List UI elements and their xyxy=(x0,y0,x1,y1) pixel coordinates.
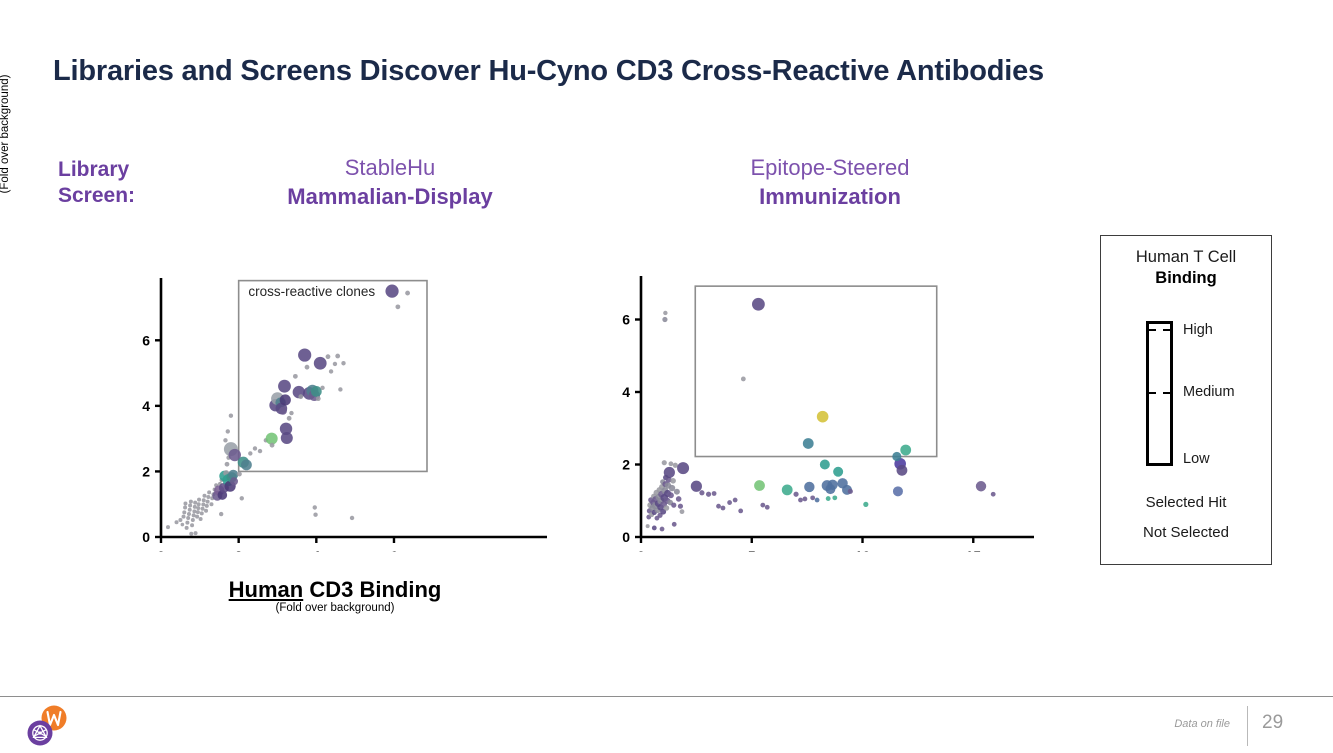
data-point xyxy=(782,484,793,495)
footer-page-number: 29 xyxy=(1262,712,1322,734)
page-title: Libraries and Screens Discover Hu-Cyno C… xyxy=(53,55,1283,88)
data-point xyxy=(314,357,327,370)
data-point xyxy=(188,508,192,512)
data-point xyxy=(201,507,205,511)
data-point xyxy=(287,416,292,421)
data-point xyxy=(662,460,667,465)
data-point xyxy=(293,374,298,379)
data-point xyxy=(313,505,317,509)
legend-title-line2: Binding xyxy=(1101,268,1271,289)
data-point xyxy=(205,504,209,508)
data-point xyxy=(826,496,831,501)
data-point xyxy=(189,500,193,504)
data-point xyxy=(892,452,901,461)
data-point xyxy=(202,494,206,498)
plot-canvas-left: 02460246cross-reactive clones xyxy=(100,262,570,552)
data-point xyxy=(678,504,683,509)
data-point xyxy=(395,304,400,309)
data-point xyxy=(691,481,702,492)
data-point xyxy=(721,506,726,511)
data-point xyxy=(311,386,322,397)
data-point xyxy=(833,467,843,477)
data-point xyxy=(204,509,208,513)
data-point xyxy=(803,438,814,449)
panel1-bold-text: Mammalian-Display xyxy=(205,184,575,211)
y-tick-label: 2 xyxy=(622,457,630,473)
scatter-plot-mammalian-display: 02460246cross-reactive clones xyxy=(100,262,570,552)
data-point xyxy=(671,503,676,508)
data-point xyxy=(752,298,765,311)
y-tick-label: 0 xyxy=(622,529,630,545)
plot-annotation: cross-reactive clones xyxy=(248,284,375,299)
data-point xyxy=(185,521,189,525)
data-point xyxy=(253,446,257,450)
data-point xyxy=(664,467,675,478)
panel2-light-text: Epitope-Steered xyxy=(640,155,1020,182)
x-tick-label: 4 xyxy=(312,548,320,552)
data-point xyxy=(298,394,303,399)
panel-label-immunization: Epitope-Steered Immunization xyxy=(640,155,1020,211)
data-point xyxy=(190,523,194,527)
y-tick-label: 0 xyxy=(142,529,150,545)
data-point xyxy=(193,505,197,509)
data-point xyxy=(193,501,197,505)
data-point xyxy=(815,498,820,503)
data-point xyxy=(186,516,190,520)
data-point xyxy=(827,480,837,490)
data-point xyxy=(652,526,657,531)
data-point xyxy=(279,407,287,415)
data-point xyxy=(229,414,233,418)
footer-vertical-divider xyxy=(1247,706,1248,746)
data-point xyxy=(305,365,310,370)
company-logo-icon xyxy=(22,704,74,748)
scatter-svg: 02460246cross-reactive clones xyxy=(100,262,570,552)
data-point xyxy=(672,522,677,527)
x-tick-label: 10 xyxy=(855,548,871,552)
data-point xyxy=(765,505,770,510)
data-point xyxy=(258,449,262,453)
colorbar-tick-medium-right xyxy=(1163,392,1170,394)
data-point xyxy=(405,291,410,296)
data-point xyxy=(677,462,689,474)
data-point xyxy=(248,451,252,455)
legend-not-selected: Not Selected xyxy=(1101,524,1271,541)
data-point xyxy=(195,515,199,519)
data-point xyxy=(738,509,743,514)
data-point xyxy=(699,490,704,495)
data-point xyxy=(175,520,179,524)
legend-title-line1: Human T Cell xyxy=(1101,247,1271,268)
y-axis-sublabel: (Fold over background) xyxy=(0,4,12,264)
legend-title: Human T Cell Binding xyxy=(1101,247,1271,288)
data-point xyxy=(668,492,674,498)
data-point xyxy=(674,489,680,495)
data-point xyxy=(716,504,721,509)
legend-colorbar xyxy=(1146,321,1173,466)
data-point xyxy=(280,394,291,405)
data-point xyxy=(313,513,317,517)
data-point xyxy=(798,498,803,503)
data-point xyxy=(760,503,765,508)
data-point xyxy=(335,354,340,359)
data-point xyxy=(863,502,868,507)
data-point xyxy=(192,509,196,513)
data-point xyxy=(225,462,230,467)
data-point xyxy=(673,463,678,468)
data-point xyxy=(329,369,333,373)
legend-scale-high: High xyxy=(1183,322,1213,338)
data-point xyxy=(200,511,204,515)
data-point xyxy=(166,525,170,529)
data-point xyxy=(182,515,186,519)
y-tick-label: 4 xyxy=(142,398,150,414)
data-point xyxy=(832,495,837,500)
data-point xyxy=(320,386,324,390)
data-point xyxy=(202,498,206,502)
data-point xyxy=(817,411,829,423)
data-point xyxy=(326,354,331,359)
data-point xyxy=(733,498,738,503)
data-point xyxy=(991,492,996,497)
data-point xyxy=(226,429,230,433)
data-point xyxy=(230,477,238,485)
y-axis-label: Cyno CD3 Binding (Fold over background) xyxy=(0,4,12,264)
x-axis-sublabel: (Fold over background) xyxy=(120,602,550,615)
colorbar-tick-medium-left xyxy=(1149,392,1156,394)
data-point xyxy=(706,492,711,497)
scatter-svg: 0510150246 xyxy=(600,262,1040,552)
y-tick-label: 2 xyxy=(142,463,150,479)
x-axis-label-rest: CD3 Binding xyxy=(303,577,441,602)
data-point xyxy=(333,362,337,366)
gate-box xyxy=(239,281,427,472)
data-point xyxy=(664,505,670,511)
panel1-light-text: StableHu xyxy=(205,155,575,182)
data-point xyxy=(662,317,667,322)
legend-selected-hit: Selected Hit xyxy=(1101,494,1271,511)
data-point xyxy=(196,510,200,514)
data-point xyxy=(188,504,192,508)
x-axis-label-underlined: Human xyxy=(229,577,304,602)
data-point xyxy=(741,377,746,382)
x-axis-label-main: Human CD3 Binding xyxy=(120,578,550,602)
data-point xyxy=(197,502,201,506)
x-axis-label: Human CD3 Binding (Fold over background) xyxy=(120,578,550,615)
data-point xyxy=(712,491,717,496)
legend-scale-low: Low xyxy=(1183,451,1210,467)
data-point xyxy=(676,496,682,502)
data-point xyxy=(201,503,205,507)
footer-divider-rule xyxy=(0,696,1333,697)
data-point xyxy=(727,500,732,505)
data-point xyxy=(976,481,986,491)
data-point xyxy=(341,361,345,365)
library-screen-label: Library Screen: xyxy=(58,157,135,208)
panel-label-mammalian-display: StableHu Mammalian-Display xyxy=(205,155,575,211)
data-point xyxy=(187,512,191,516)
data-point xyxy=(660,527,665,532)
legend-panel: Human T Cell Binding High Medium Low Sel… xyxy=(1100,235,1272,565)
x-tick-label: 5 xyxy=(748,548,756,552)
data-point xyxy=(209,502,213,506)
data-point xyxy=(178,518,182,522)
data-point xyxy=(669,461,674,466)
data-point xyxy=(289,411,293,415)
data-point xyxy=(207,490,211,494)
data-point xyxy=(338,387,342,391)
data-point xyxy=(663,311,667,315)
library-screen-line1: Library xyxy=(58,158,129,181)
data-point xyxy=(241,459,252,470)
data-point xyxy=(183,502,187,506)
footer-note: Data on file xyxy=(1120,718,1230,730)
legend-scale-medium: Medium xyxy=(1183,384,1235,400)
data-point xyxy=(206,500,210,504)
data-point xyxy=(316,396,321,401)
data-point xyxy=(793,492,798,497)
y-tick-label: 6 xyxy=(142,332,150,348)
data-point xyxy=(385,285,398,298)
x-tick-label: 0 xyxy=(637,548,645,552)
colorbar-tick-high-right xyxy=(1163,329,1170,331)
data-point xyxy=(680,509,685,514)
data-point xyxy=(897,465,908,476)
data-point xyxy=(754,480,765,491)
gate-box xyxy=(695,286,936,456)
data-point xyxy=(670,478,676,484)
data-point xyxy=(223,438,227,442)
data-point xyxy=(182,510,186,514)
data-point xyxy=(848,489,853,494)
data-point xyxy=(197,498,201,502)
x-tick-label: 2 xyxy=(235,548,243,552)
data-point xyxy=(278,380,291,393)
data-point xyxy=(192,513,196,517)
data-point xyxy=(219,512,223,516)
data-point xyxy=(900,445,911,456)
data-point xyxy=(646,524,650,528)
data-point xyxy=(893,486,903,496)
x-tick-label: 0 xyxy=(157,548,165,552)
x-tick-label: 15 xyxy=(965,548,981,552)
data-point xyxy=(281,432,293,444)
data-point xyxy=(185,526,189,530)
data-point xyxy=(199,517,203,521)
data-point xyxy=(804,482,814,492)
data-point xyxy=(350,516,354,520)
data-point xyxy=(237,472,242,477)
x-tick-label: 6 xyxy=(390,548,398,552)
data-point xyxy=(189,532,193,536)
y-tick-label: 4 xyxy=(622,384,630,400)
colorbar-tick-high-left xyxy=(1149,329,1156,331)
library-screen-line2: Screen: xyxy=(58,184,135,207)
data-point xyxy=(196,506,200,510)
slide-root: Libraries and Screens Discover Hu-Cyno C… xyxy=(0,0,1333,749)
data-point xyxy=(181,523,185,527)
data-point xyxy=(810,495,815,500)
plot-canvas-right: 0510150246 xyxy=(600,262,1040,552)
scatter-plot-immunization: 0510150246 xyxy=(600,262,1040,552)
panel2-bold-text: Immunization xyxy=(640,184,1020,211)
data-point xyxy=(191,518,195,522)
data-point xyxy=(270,443,275,448)
data-point xyxy=(803,497,808,502)
data-point xyxy=(820,460,830,470)
data-point xyxy=(240,496,244,500)
data-point xyxy=(206,495,210,499)
data-point xyxy=(183,505,187,509)
y-tick-label: 6 xyxy=(622,312,630,328)
data-point xyxy=(298,348,311,361)
data-point xyxy=(194,531,198,535)
